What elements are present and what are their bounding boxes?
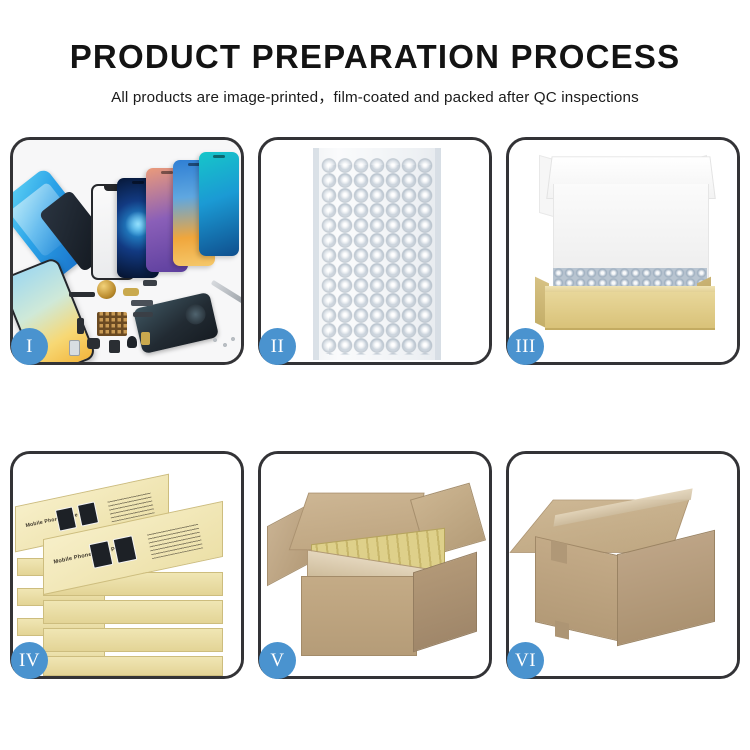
- speaker-part-icon: [109, 340, 120, 353]
- step-badge-3: III: [507, 328, 544, 365]
- button-flex-part-icon: [133, 312, 153, 317]
- process-step-2: II: [258, 137, 492, 365]
- screw-tray-part-icon: [97, 312, 127, 336]
- ribbon-cable-part-icon: [131, 300, 153, 306]
- step-3-image: [509, 140, 737, 362]
- process-step-6: VI: [506, 451, 740, 679]
- antenna-part-icon: [77, 318, 84, 334]
- mailer-front-panel-icon: [545, 292, 715, 330]
- earpiece-mesh-part-icon: [69, 292, 95, 297]
- tweezers-icon: [211, 280, 241, 305]
- step-1-image: [13, 140, 241, 362]
- gold-contact-part-icon: [141, 332, 150, 345]
- loose-screws-icon: [211, 336, 237, 350]
- carton-tab-upper-icon: [551, 540, 567, 564]
- process-step-3: III: [506, 137, 740, 365]
- step-badge-2: II: [259, 328, 296, 365]
- step-badge-5: V: [259, 642, 296, 679]
- step-4-image: Mobile Phone Spare Parts Mobile Phone Sp…: [13, 454, 241, 676]
- process-step-5: V: [258, 451, 492, 679]
- carton-tab-lower-icon: [555, 620, 569, 639]
- small-flex-part-icon: [143, 280, 157, 286]
- page-subtitle: All products are image-printed，film-coat…: [0, 76, 750, 107]
- sim-tray-part-icon: [69, 340, 80, 356]
- flex-connector-part-icon: [123, 288, 139, 296]
- camera-module-part-icon: [87, 338, 100, 349]
- step-badge-4: IV: [11, 642, 48, 679]
- stacked-box-front-2: [43, 600, 223, 624]
- stacked-box-front-3: [43, 628, 223, 652]
- step-5-image: [261, 454, 489, 676]
- step-2-image: [261, 140, 489, 362]
- vibrator-part-icon: [127, 336, 137, 348]
- page-title: PRODUCT PREPARATION PROCESS: [0, 0, 750, 76]
- process-step-4: Mobile Phone Spare Parts Mobile Phone Sp…: [10, 451, 244, 679]
- bubble-wrap-edge-icon: [313, 148, 441, 360]
- process-step-1: I: [10, 137, 244, 365]
- page-header: PRODUCT PREPARATION PROCESS All products…: [0, 0, 750, 107]
- phone-display-4-icon: [199, 152, 239, 256]
- stacked-box-front-4: [43, 656, 223, 676]
- step-6-image: [509, 454, 737, 676]
- step-badge-6: VI: [507, 642, 544, 679]
- step-badge-1: I: [11, 328, 48, 365]
- copper-coil-part-icon: [97, 280, 116, 299]
- process-grid: I II III: [10, 137, 740, 679]
- carton-front-panel-icon: [301, 576, 417, 656]
